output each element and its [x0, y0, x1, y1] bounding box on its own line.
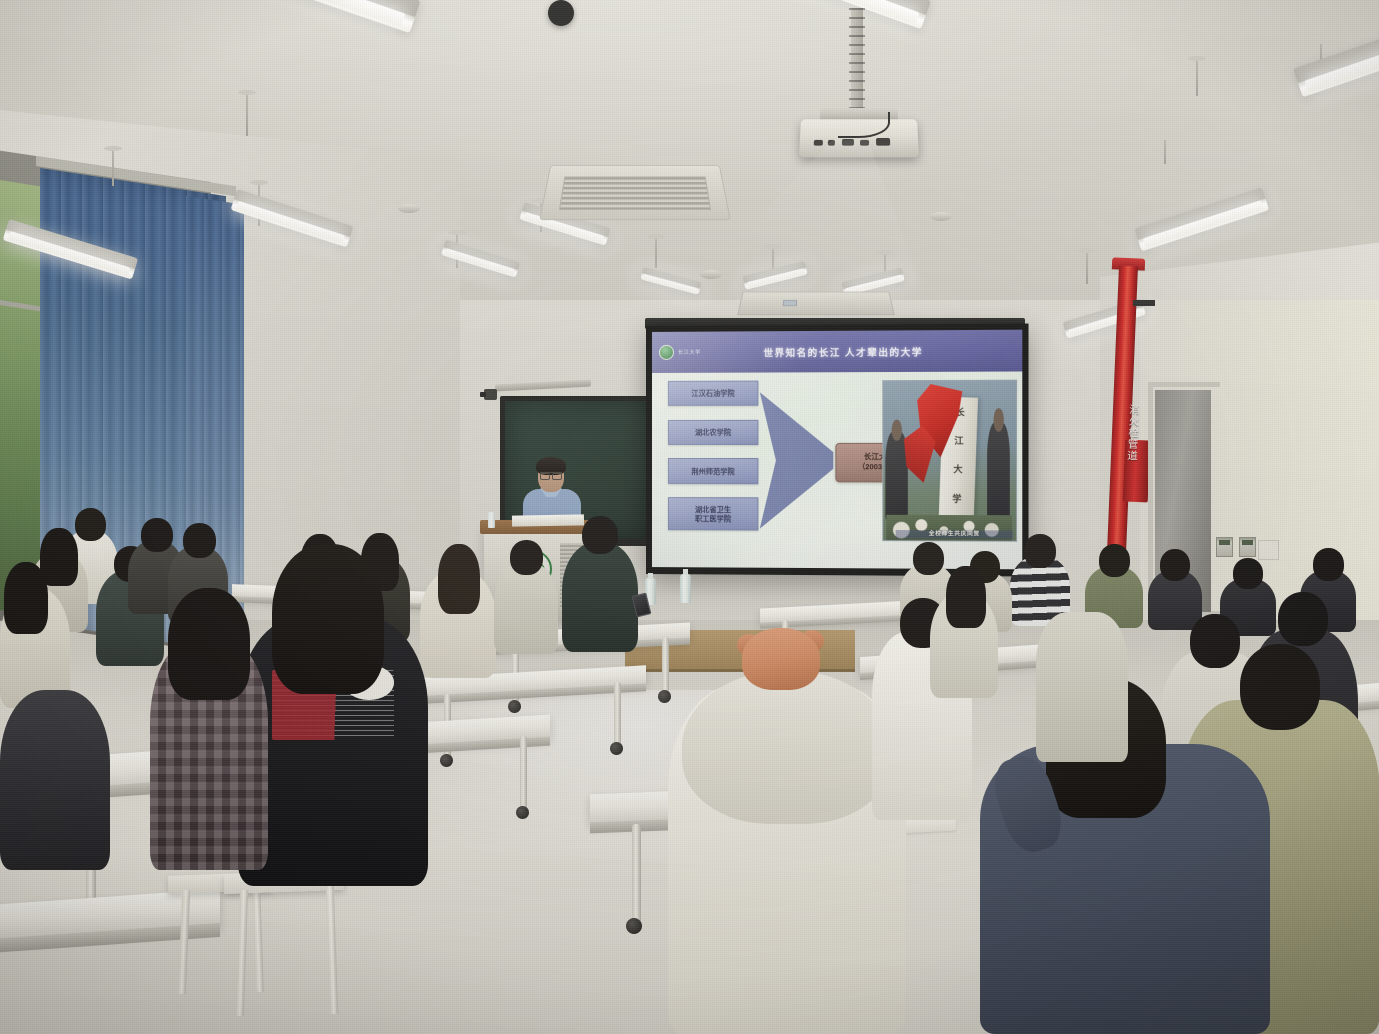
smoke-detector-icon [930, 212, 952, 221]
fire-pipe-label: 消火栓管道 [1123, 404, 1140, 462]
monument-char: 大 [953, 462, 962, 475]
slide-header-band: 长江大学 世界知名的长江 人才辈出的大学 [652, 330, 1022, 373]
slide-logo-text: 长江大学 [678, 349, 701, 355]
light-rod-cap [876, 250, 894, 255]
light-rod-cap [647, 234, 665, 239]
light-rod [1086, 250, 1088, 284]
photo-caption: 全校师生共庆同贺 [896, 530, 1013, 539]
student-dark-green-shirt [562, 542, 638, 652]
student-dark-shirt [1148, 570, 1202, 630]
student-bear-hat [668, 684, 906, 1034]
lecture-hall-photo: 消火栓管道 长江大学 世界知名的长江 人才辈出的大学 江汉石油学院 湖北农学院 … [0, 0, 1379, 1034]
student-light-top [494, 562, 558, 654]
smoke-detector-icon [700, 270, 722, 279]
light-rod [112, 148, 114, 186]
light-rod-cap [1078, 248, 1096, 253]
light-rod [1164, 140, 1166, 164]
camera-icon [484, 389, 497, 400]
source-institution-box: 荆州师范学院 [668, 458, 758, 483]
air-conditioner-unit [539, 165, 731, 220]
light-rod [655, 236, 657, 268]
monument-char: 江 [954, 433, 963, 446]
student-beige-hoodie [420, 570, 496, 678]
glasses-icon [540, 472, 562, 477]
light-rod-cap [250, 180, 268, 185]
monument-char: 学 [952, 491, 961, 504]
podium-papers [512, 514, 584, 526]
slide-title: 世界知名的长江 人才辈出的大学 [701, 344, 1023, 360]
wall-socket[interactable] [1216, 537, 1233, 557]
light-rod [1196, 58, 1198, 96]
university-seal-icon [659, 345, 674, 360]
source-institution-box: 湖北省卫生 职工医学院 [668, 497, 758, 530]
wall-socket[interactable] [1239, 537, 1256, 557]
light-rod-cap [104, 146, 122, 151]
podium-water-bottle [488, 512, 495, 528]
source-institution-box: 湖北农学院 [668, 419, 758, 444]
student-foreground-left [0, 690, 110, 870]
wall-plate [1258, 540, 1279, 560]
pipe-wall-bracket [1133, 300, 1155, 306]
presentation-slide: 长江大学 世界知名的长江 人才辈出的大学 江汉石油学院 湖北农学院 荆州师范学院… [652, 330, 1022, 570]
light-rod [246, 92, 248, 136]
light-rod-cap [448, 230, 466, 235]
water-bottle [680, 574, 691, 603]
source-institution-box: 江汉石油学院 [668, 380, 758, 406]
ceiling-vent [737, 292, 895, 316]
photo-person-right [988, 422, 1011, 521]
slide-body: 江汉石油学院 湖北农学院 荆州师范学院 湖北省卫生 职工医学院 长江大学 （20… [652, 372, 1022, 570]
student-light-top [930, 592, 998, 698]
student-back-row [1036, 612, 1128, 762]
bear-ear-hat [742, 628, 820, 690]
merge-arrow-shape [760, 392, 834, 529]
smoke-detector-icon [398, 204, 420, 213]
light-rod-cap [238, 90, 256, 95]
light-rod-cap [1188, 56, 1206, 61]
projection-screen: 长江大学 世界知名的长江 人才辈出的大学 江汉石油学院 湖北农学院 荆州师范学院… [646, 324, 1029, 577]
light-rod-cap [764, 244, 782, 249]
student-plaid-shirt [150, 640, 268, 870]
projector-mount [851, 8, 863, 113]
monument-photo: 长 江 大 学 全校师生共庆同贺 [882, 380, 1017, 542]
ceiling-speaker [548, 0, 574, 26]
